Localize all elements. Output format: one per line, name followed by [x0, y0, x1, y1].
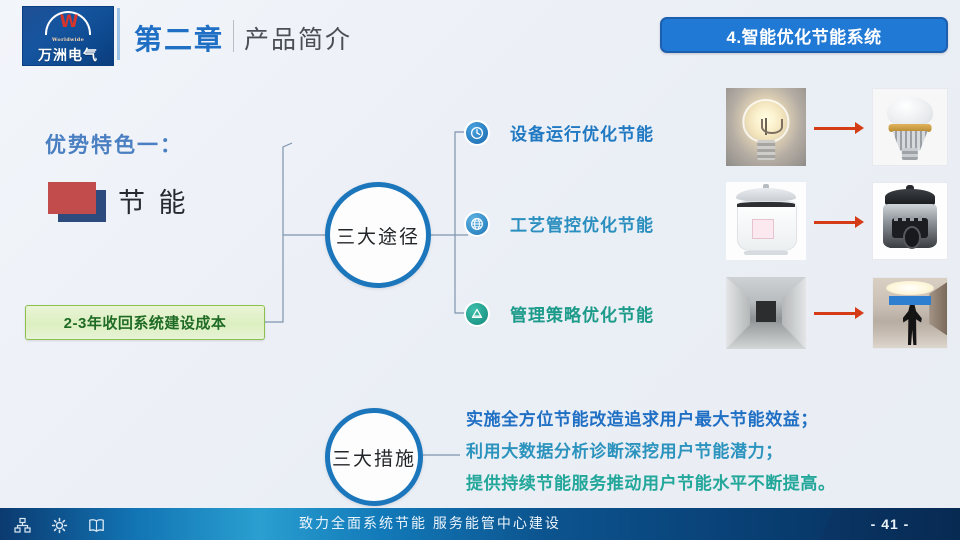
path-item-3-label: 管理策略优化节能 [510, 301, 654, 326]
path-item-3: 管理策略优化节能 [466, 301, 654, 326]
photo-electric-pressure-cooker [872, 182, 948, 260]
page-number-label: - 41 - [871, 516, 910, 532]
accent-square-group [48, 182, 108, 224]
photo-incandescent-bulb [726, 88, 806, 166]
footer-slogan: 致力全面系统节能 服务能管中心建设 [0, 513, 860, 533]
accent-square [48, 182, 96, 214]
measure-line-2: 利用大数据分析诊断深挖用户节能潜力； [466, 436, 946, 468]
globe-network-icon [466, 213, 488, 235]
measure-line-1: 实施全方位节能改造追求用户最大节能效益； [466, 404, 946, 436]
path-item-1: 设备运行优化节能 [466, 120, 654, 145]
triangle-badge-icon [466, 303, 488, 325]
photo-old-rice-cooker [726, 182, 806, 260]
arrow-right-icon-2 [814, 216, 864, 228]
paths-circle-node: 三大途径 [325, 182, 431, 288]
slide-canvas: W Worldwide 万洲电气 第二章 产品简介 4.智能优化节能系统 优势特… [0, 0, 960, 540]
cost-recovery-label: 2-3年收回系统建设成本 [64, 312, 227, 333]
keyword-label: 节 能 [118, 181, 189, 220]
footer-page-number: - 41 - [820, 508, 960, 540]
measure-line-3: 提供持续节能服务推动用户节能水平不断提高。 [466, 468, 946, 500]
path-item-2-label: 工艺管控优化节能 [510, 211, 654, 236]
measures-circle-node: 三大措施 [325, 408, 423, 506]
arrow-right-icon-1 [814, 122, 864, 134]
photo-led-bulb [872, 88, 948, 166]
path-item-2: 工艺管控优化节能 [466, 211, 654, 236]
photo-lit-corridor [872, 277, 948, 349]
path-item-1-label: 设备运行优化节能 [510, 120, 654, 145]
photo-dark-corridor [726, 277, 806, 349]
cost-recovery-box: 2-3年收回系统建设成本 [25, 305, 265, 340]
arrow-right-icon-3 [814, 307, 864, 319]
measures-text-block: 实施全方位节能改造追求用户最大节能效益； 利用大数据分析诊断深挖用户节能潜力； … [466, 404, 946, 500]
advantage-title: 优势特色一： [45, 129, 183, 159]
paths-circle-label: 三大途径 [336, 222, 420, 249]
measures-circle-label: 三大措施 [332, 444, 416, 471]
clock-icon [466, 122, 488, 144]
